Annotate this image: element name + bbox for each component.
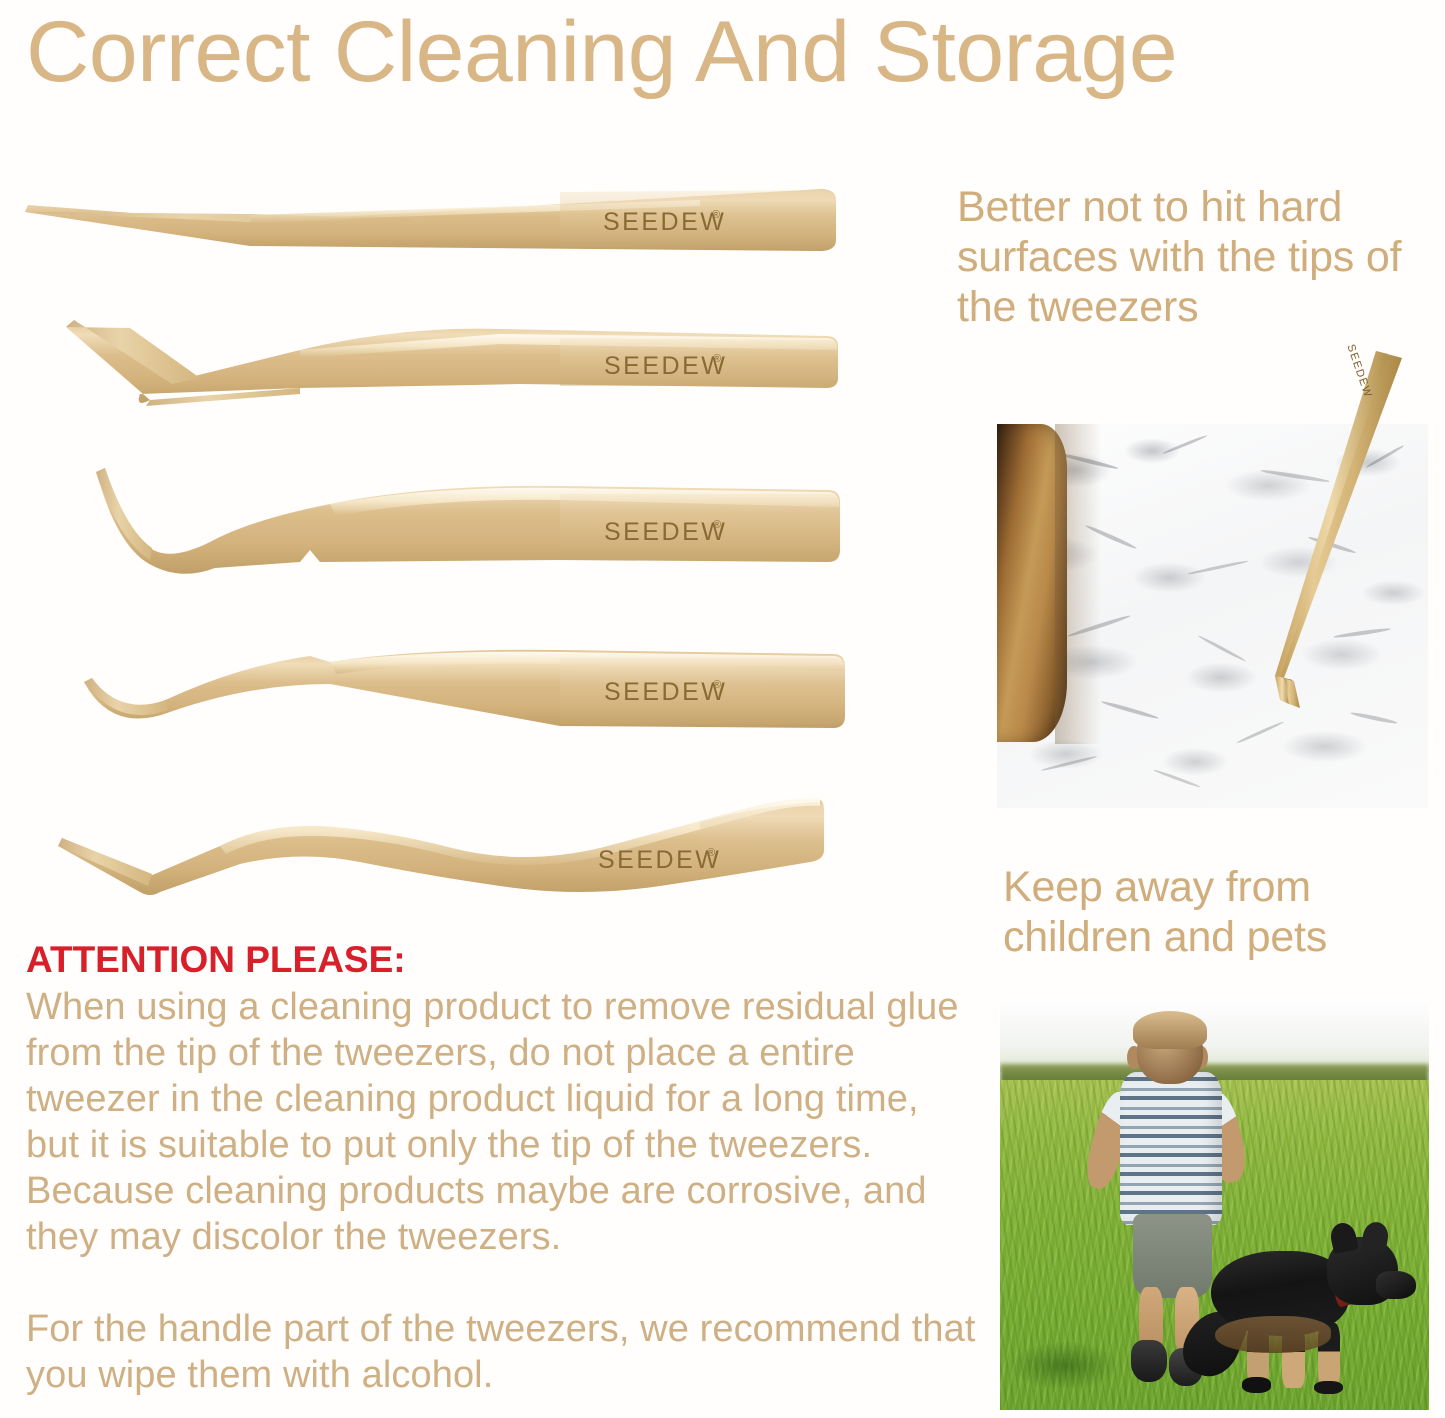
tweezer-illustrations: SEEDEW ® SEEDEW ® SEEDEW ® bbox=[0, 150, 900, 910]
infographic-page: Correct Cleaning And Storage bbox=[0, 0, 1445, 1418]
dog-left-ear bbox=[1329, 1221, 1359, 1255]
wooden-board-shadow bbox=[1055, 424, 1101, 744]
dog-front-paw bbox=[1314, 1381, 1343, 1395]
note-keep-away: Keep away from children and pets bbox=[1003, 862, 1445, 962]
tweezer-5-s-curve: SEEDEW ® bbox=[58, 798, 824, 895]
attention-heading: ATTENTION PLEASE: bbox=[26, 938, 976, 982]
brand-trademark-4: ® bbox=[713, 679, 721, 691]
note-hard-surfaces: Better not to hit hard surfaces with the… bbox=[957, 182, 1445, 332]
tweezer-2-boot45: SEEDEW ® bbox=[66, 320, 838, 406]
brand-engraving-2: SEEDEW bbox=[604, 352, 727, 380]
attention-block: ATTENTION PLEASE: When using a cleaning … bbox=[26, 938, 976, 1398]
brand-engraving-5: SEEDEW bbox=[598, 846, 721, 874]
brand-engraving-1: SEEDEW bbox=[603, 208, 726, 236]
page-title: Correct Cleaning And Storage bbox=[26, 4, 1445, 100]
dog-rear-paw bbox=[1242, 1377, 1271, 1392]
brand-trademark-5: ® bbox=[707, 847, 715, 859]
photo-child-and-dog bbox=[1000, 1003, 1429, 1410]
brand-engraving-4: SEEDEW bbox=[604, 678, 727, 706]
photo-marble-tweezer: SEEDEW bbox=[1170, 348, 1445, 748]
child-striped-shirt bbox=[1120, 1072, 1222, 1225]
tweezer-4-curved-volume: SEEDEW ® bbox=[84, 650, 845, 728]
dog-underbelly bbox=[1215, 1316, 1331, 1354]
brand-trademark-2: ® bbox=[713, 353, 721, 365]
attention-paragraph-2: For the handle part of the tweezers, we … bbox=[26, 1306, 976, 1398]
child-left-shoe bbox=[1131, 1340, 1167, 1382]
tweezer-3-curved-l: SEEDEW ® bbox=[96, 468, 840, 574]
dog-figure bbox=[1193, 1227, 1416, 1398]
dog-snout bbox=[1376, 1271, 1416, 1298]
brand-trademark-3: ® bbox=[713, 519, 721, 531]
tweezer-1-straight: SEEDEW ® bbox=[25, 189, 836, 251]
brand-engraving-3: SEEDEW bbox=[604, 518, 727, 546]
brand-trademark-1: ® bbox=[712, 209, 720, 221]
photo-brand-engraving: SEEDEW bbox=[1344, 343, 1374, 400]
tweezer-gallery: SEEDEW ® SEEDEW ® SEEDEW ® bbox=[0, 150, 900, 910]
attention-paragraph-1: When using a cleaning product to remove … bbox=[26, 984, 976, 1260]
child-hair bbox=[1133, 1011, 1207, 1049]
